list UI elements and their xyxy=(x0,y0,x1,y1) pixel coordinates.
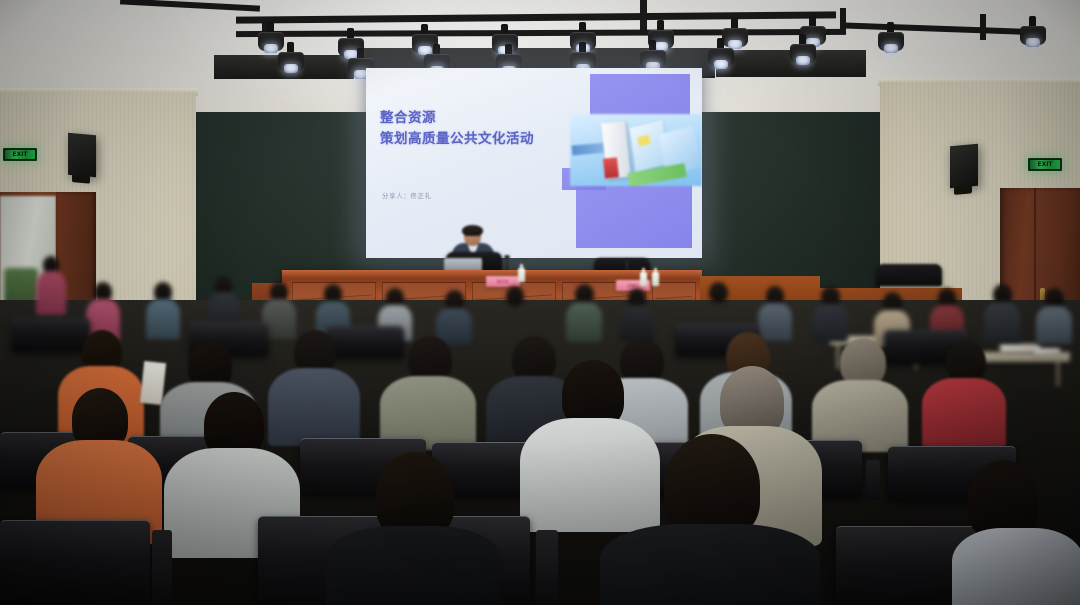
audience-member xyxy=(498,286,532,338)
stage-light-icon xyxy=(790,42,816,66)
presenter-glasses-icon xyxy=(464,235,481,239)
wall-speaker-left-icon xyxy=(68,133,96,177)
exit-sign-label: EXIT xyxy=(4,149,36,160)
audience-member xyxy=(812,286,848,338)
light-truss-drop xyxy=(640,0,647,34)
slide-title: 整合资源 策划高质量公共文化活动 xyxy=(380,108,534,150)
seat-armrest xyxy=(536,530,558,605)
stage-light-icon xyxy=(878,30,904,54)
light-truss-drop xyxy=(840,8,846,34)
stage-light-icon xyxy=(1020,24,1046,48)
stage-light-icon xyxy=(278,50,304,74)
audience-member xyxy=(436,290,472,340)
water-bottle xyxy=(640,272,647,286)
audience-member-foreground xyxy=(36,388,162,538)
seat-armrest xyxy=(866,460,880,500)
audience-member xyxy=(566,284,602,338)
audience-member xyxy=(984,284,1020,338)
slide-presenter-line: 分享人：佟正礼 xyxy=(382,190,432,200)
exit-sign-left: EXIT xyxy=(3,148,37,161)
conference-hall-photo: EXIT EXIT 整合资源 策划高质量公共文化活动 分 xyxy=(0,0,1080,605)
slide-title-line2: 策划高质量公共文化活动 xyxy=(380,129,534,150)
slide-photo-collage xyxy=(570,114,702,186)
exit-sign-right: EXIT xyxy=(1028,158,1062,171)
handout-paper xyxy=(1034,348,1060,355)
audience-member xyxy=(1036,288,1072,340)
photo-building-base xyxy=(603,157,619,178)
slide-title-line1: 整合资源 xyxy=(380,110,436,126)
auditorium-seat[interactable] xyxy=(0,520,150,605)
audience-member-nearest xyxy=(600,434,820,605)
water-bottle xyxy=(518,268,525,282)
audience-member xyxy=(812,338,908,448)
stage-light-icon xyxy=(708,46,734,70)
seat-armrest xyxy=(152,530,172,605)
audience-member-nearest xyxy=(952,460,1080,605)
audience-member xyxy=(620,288,654,338)
stage-chair xyxy=(876,264,942,286)
audience-member xyxy=(758,286,792,338)
projection-screen: 整合资源 策划高质量公共文化活动 分享人：佟正礼 xyxy=(366,68,702,258)
audience-member xyxy=(380,336,476,446)
water-bottle xyxy=(652,272,659,286)
wall-speaker-right-icon xyxy=(950,144,978,188)
light-truss-drop xyxy=(980,14,986,40)
audience-member xyxy=(36,256,66,314)
exit-sign-label: EXIT xyxy=(1029,159,1061,170)
audience-member xyxy=(922,340,1006,444)
audience-member-nearest xyxy=(326,452,502,605)
audience-member xyxy=(146,282,180,336)
